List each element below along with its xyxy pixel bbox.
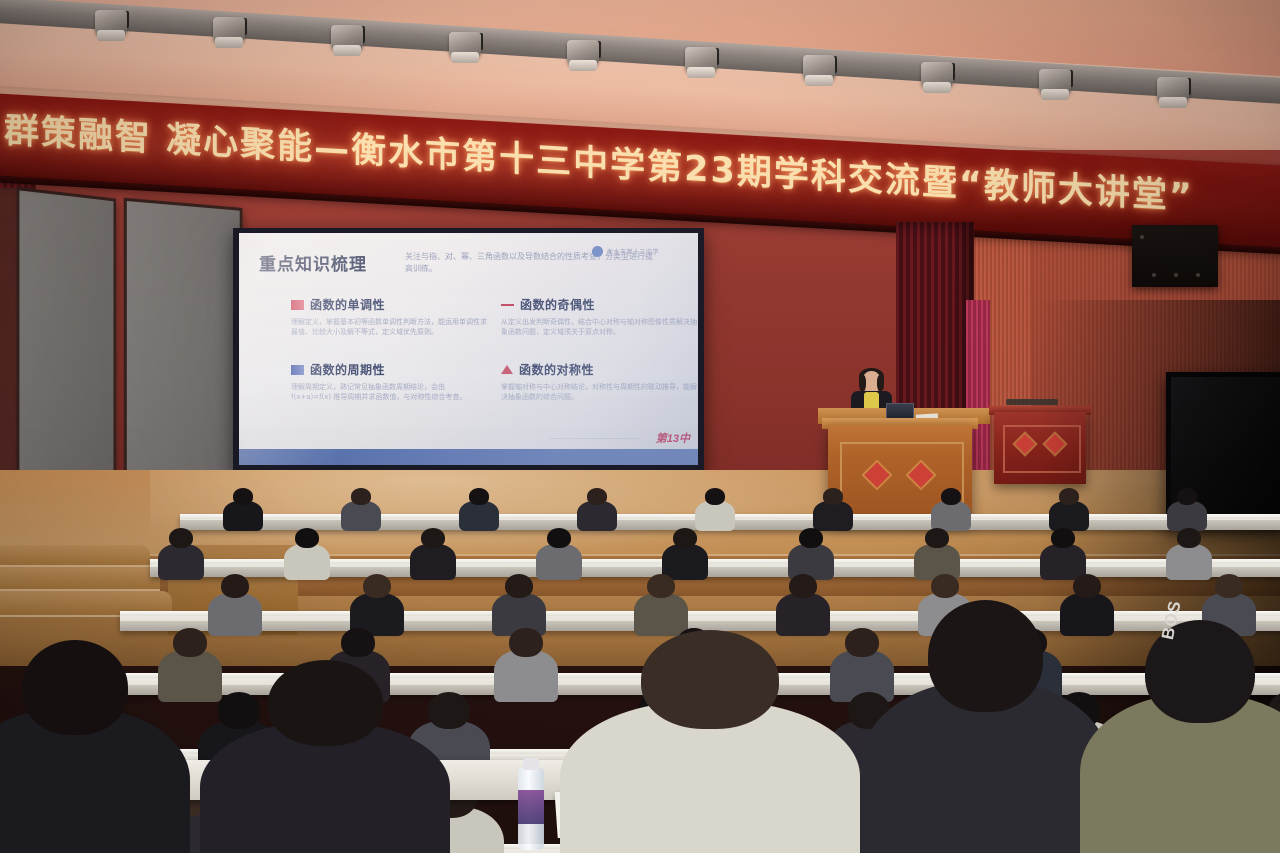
- audience-member: [350, 574, 404, 634]
- stage-light-group: [0, 0, 1280, 120]
- audience-member: [223, 488, 263, 530]
- light-lens: [805, 75, 833, 86]
- audience-member-body: [223, 501, 263, 531]
- audience-member-head: [823, 488, 844, 505]
- audience-member: [459, 488, 499, 530]
- section-heading: 函数的单调性: [310, 296, 385, 313]
- audience-member: [788, 528, 834, 578]
- stage-light: [567, 40, 603, 80]
- audience-member-head: [705, 488, 726, 505]
- audience-member-head: [647, 574, 675, 598]
- presenter-hair-right: [877, 375, 884, 391]
- slide-section-monotonicity: 函数的单调性 理解定义，掌握基本初等函数单调性判断方法，能运用单调性求最值、比较…: [291, 296, 487, 337]
- audience-member-body: [695, 501, 735, 531]
- audience-member-head: [587, 488, 608, 505]
- audience-member: [208, 574, 262, 634]
- section-body: 掌握轴对称与中心对称结论，对称性与周期性的联动推导，能解决抽象函数的综合问题。: [501, 382, 697, 402]
- section-heading-row: 函数的对称性: [501, 361, 697, 378]
- audience-member: [158, 528, 204, 578]
- audience-member-head: [1051, 528, 1075, 548]
- audience-member-head: [799, 528, 823, 548]
- audience-member-head: [789, 574, 817, 598]
- audience-member-head: [941, 488, 962, 505]
- audience-member: [1040, 528, 1086, 578]
- audience-member-head: [1177, 488, 1198, 505]
- audience-member-head: [505, 574, 533, 598]
- bottle-label: [518, 790, 544, 824]
- light-lens: [97, 30, 125, 41]
- slide-section-parity: 函数的奇偶性 从定义出发判断奇偶性，结合中心对称与轴对称图像性质解决抽象函数问题…: [501, 296, 697, 337]
- light-lens: [923, 82, 951, 93]
- audience-member-head: [295, 528, 319, 548]
- foreground-head: [928, 600, 1043, 712]
- audience-member-head: [547, 528, 571, 548]
- foreground-head: [268, 660, 383, 746]
- audience-member: [492, 574, 546, 634]
- audience-member-body: [494, 650, 558, 702]
- audience-member-body: [813, 501, 853, 531]
- slide-school-logo: 衡水市第十三中学: [592, 245, 688, 258]
- audience-member-head: [351, 488, 372, 505]
- speaker-dot-icon: [1152, 273, 1156, 277]
- audience-member-foreground-olive: [1080, 620, 1280, 853]
- audience-member-head: [1059, 488, 1080, 505]
- audience-member-body: [284, 544, 330, 580]
- speaker-dot-icon: [1140, 235, 1144, 239]
- slide-section-periodicity: 函数的周期性 理解周期定义，熟记常见抽象函数周期结论，会由 f(x+a)=f(x…: [291, 361, 487, 402]
- audience-member-foreground-white-shirt: [560, 630, 860, 853]
- audience-member-head: [1215, 574, 1243, 598]
- logo-dot-icon: [592, 246, 603, 257]
- light-lens: [1159, 97, 1187, 108]
- audience-member: [695, 488, 735, 530]
- slide-section-symmetry: 函数的对称性 掌握轴对称与中心对称结论，对称性与周期性的联动推导，能解决抽象函数…: [501, 361, 697, 402]
- slide-footer-band: [239, 449, 698, 465]
- audience-member-head: [341, 628, 374, 657]
- audience-member-head: [421, 528, 445, 548]
- audience-member-head: [1177, 528, 1201, 548]
- triangle-marker-icon: [501, 365, 513, 374]
- audience-member: [813, 488, 853, 530]
- speaker-dot-icon: [1174, 273, 1178, 277]
- section-heading-row: 函数的奇偶性: [501, 296, 697, 313]
- audience-member: [1167, 488, 1207, 530]
- audience-member-foreground: [0, 640, 190, 853]
- dash-marker-icon: [501, 304, 514, 306]
- section-body: 理解定义，掌握基本初等函数单调性判断方法，能运用单调性求最值、比较大小及解不等式…: [291, 317, 487, 337]
- audience-member: [284, 528, 330, 578]
- stage-light: [803, 55, 839, 95]
- section-heading: 函数的奇偶性: [520, 296, 595, 313]
- audience-member: [577, 488, 617, 530]
- foreground-head: [22, 640, 128, 735]
- audience-member-body: [341, 501, 381, 531]
- audience-member: [634, 574, 688, 634]
- audience-member: [931, 488, 971, 530]
- bottle-cap: [523, 758, 539, 770]
- light-lens: [333, 45, 361, 56]
- stage-light: [449, 32, 485, 72]
- logo-label: 衡水市第十三中学: [607, 247, 659, 256]
- audience-member: [662, 528, 708, 578]
- audience-member-head: [673, 528, 697, 548]
- audience-member-body: [1167, 501, 1207, 531]
- section-heading-row: 函数的单调性: [291, 296, 487, 313]
- audience-member-head: [169, 528, 193, 548]
- audience-member-body: [931, 501, 971, 531]
- section-heading: 函数的对称性: [519, 361, 594, 378]
- stage-light: [1039, 69, 1075, 109]
- section-heading: 函数的周期性: [310, 361, 385, 378]
- light-lens: [451, 52, 479, 63]
- audience-member-head: [509, 628, 542, 657]
- stage-light: [331, 25, 367, 65]
- slide-title: 重点知识梳理: [259, 250, 367, 275]
- audience-member-body: [410, 544, 456, 580]
- audience-member: [341, 488, 381, 530]
- projection-screen[interactable]: 重点知识梳理 关注与指、对、幂、三角函数以及导数结合的性质考查，分类型进行拔高训…: [239, 233, 698, 465]
- section-body: 从定义出发判断奇偶性，结合中心对称与轴对称图像性质解决抽象函数问题，定义域须关于…: [501, 317, 697, 337]
- light-lens: [687, 67, 715, 78]
- secondary-podium-items: [1006, 399, 1058, 405]
- speaker-dot-icon: [1196, 273, 1200, 277]
- stage-light: [95, 10, 131, 50]
- auditorium-photo: 群策融智 凝心聚能—衡水市第十三中学第23期学科交流暨“教师大讲堂” 重点知识梳…: [0, 0, 1280, 853]
- light-lens: [1041, 89, 1069, 100]
- light-lens: [569, 60, 597, 71]
- audience-member-foreground: [200, 660, 450, 853]
- audience-member: [410, 528, 456, 578]
- audience-member-head: [925, 528, 949, 548]
- audience-member: [914, 528, 960, 578]
- square-marker-icon: [291, 365, 304, 375]
- audience-member-body: [577, 501, 617, 531]
- audience-member-body: [1049, 501, 1089, 531]
- audience-member-head: [363, 574, 391, 598]
- section-body: 理解周期定义，熟记常见抽象函数周期结论，会由 f(x+a)=f(x) 推导周期并…: [291, 382, 487, 402]
- audience-member-head: [1073, 574, 1101, 598]
- audience-member-body: [459, 501, 499, 531]
- audience-member: [1166, 528, 1212, 578]
- slide-brand-mark: 第13中: [656, 430, 690, 446]
- audience-member-head: [469, 488, 490, 505]
- slide-brand-rule: [550, 438, 640, 439]
- audience-member: [494, 628, 558, 700]
- audience-member-head: [221, 574, 249, 598]
- audience-member-head: [233, 488, 254, 505]
- presenter-hair-left: [859, 375, 866, 391]
- stage-light: [921, 62, 957, 102]
- audience-member: [536, 528, 582, 578]
- audience-member: [776, 574, 830, 634]
- secondary-podium-inset: [1003, 425, 1081, 473]
- stage-light: [213, 17, 249, 57]
- square-marker-icon: [291, 300, 304, 310]
- stage-light: [685, 47, 721, 87]
- wall-speaker: [1132, 225, 1218, 287]
- audience-member-head: [931, 574, 959, 598]
- water-bottle[interactable]: [518, 768, 544, 850]
- foreground-head: [641, 630, 779, 729]
- audience-member: [1049, 488, 1089, 530]
- audience-member-foreground: [860, 600, 1110, 853]
- section-heading-row: 函数的周期性: [291, 361, 487, 378]
- stage-light: [1157, 77, 1193, 117]
- light-lens: [215, 37, 243, 48]
- audience-member-body: [158, 544, 204, 580]
